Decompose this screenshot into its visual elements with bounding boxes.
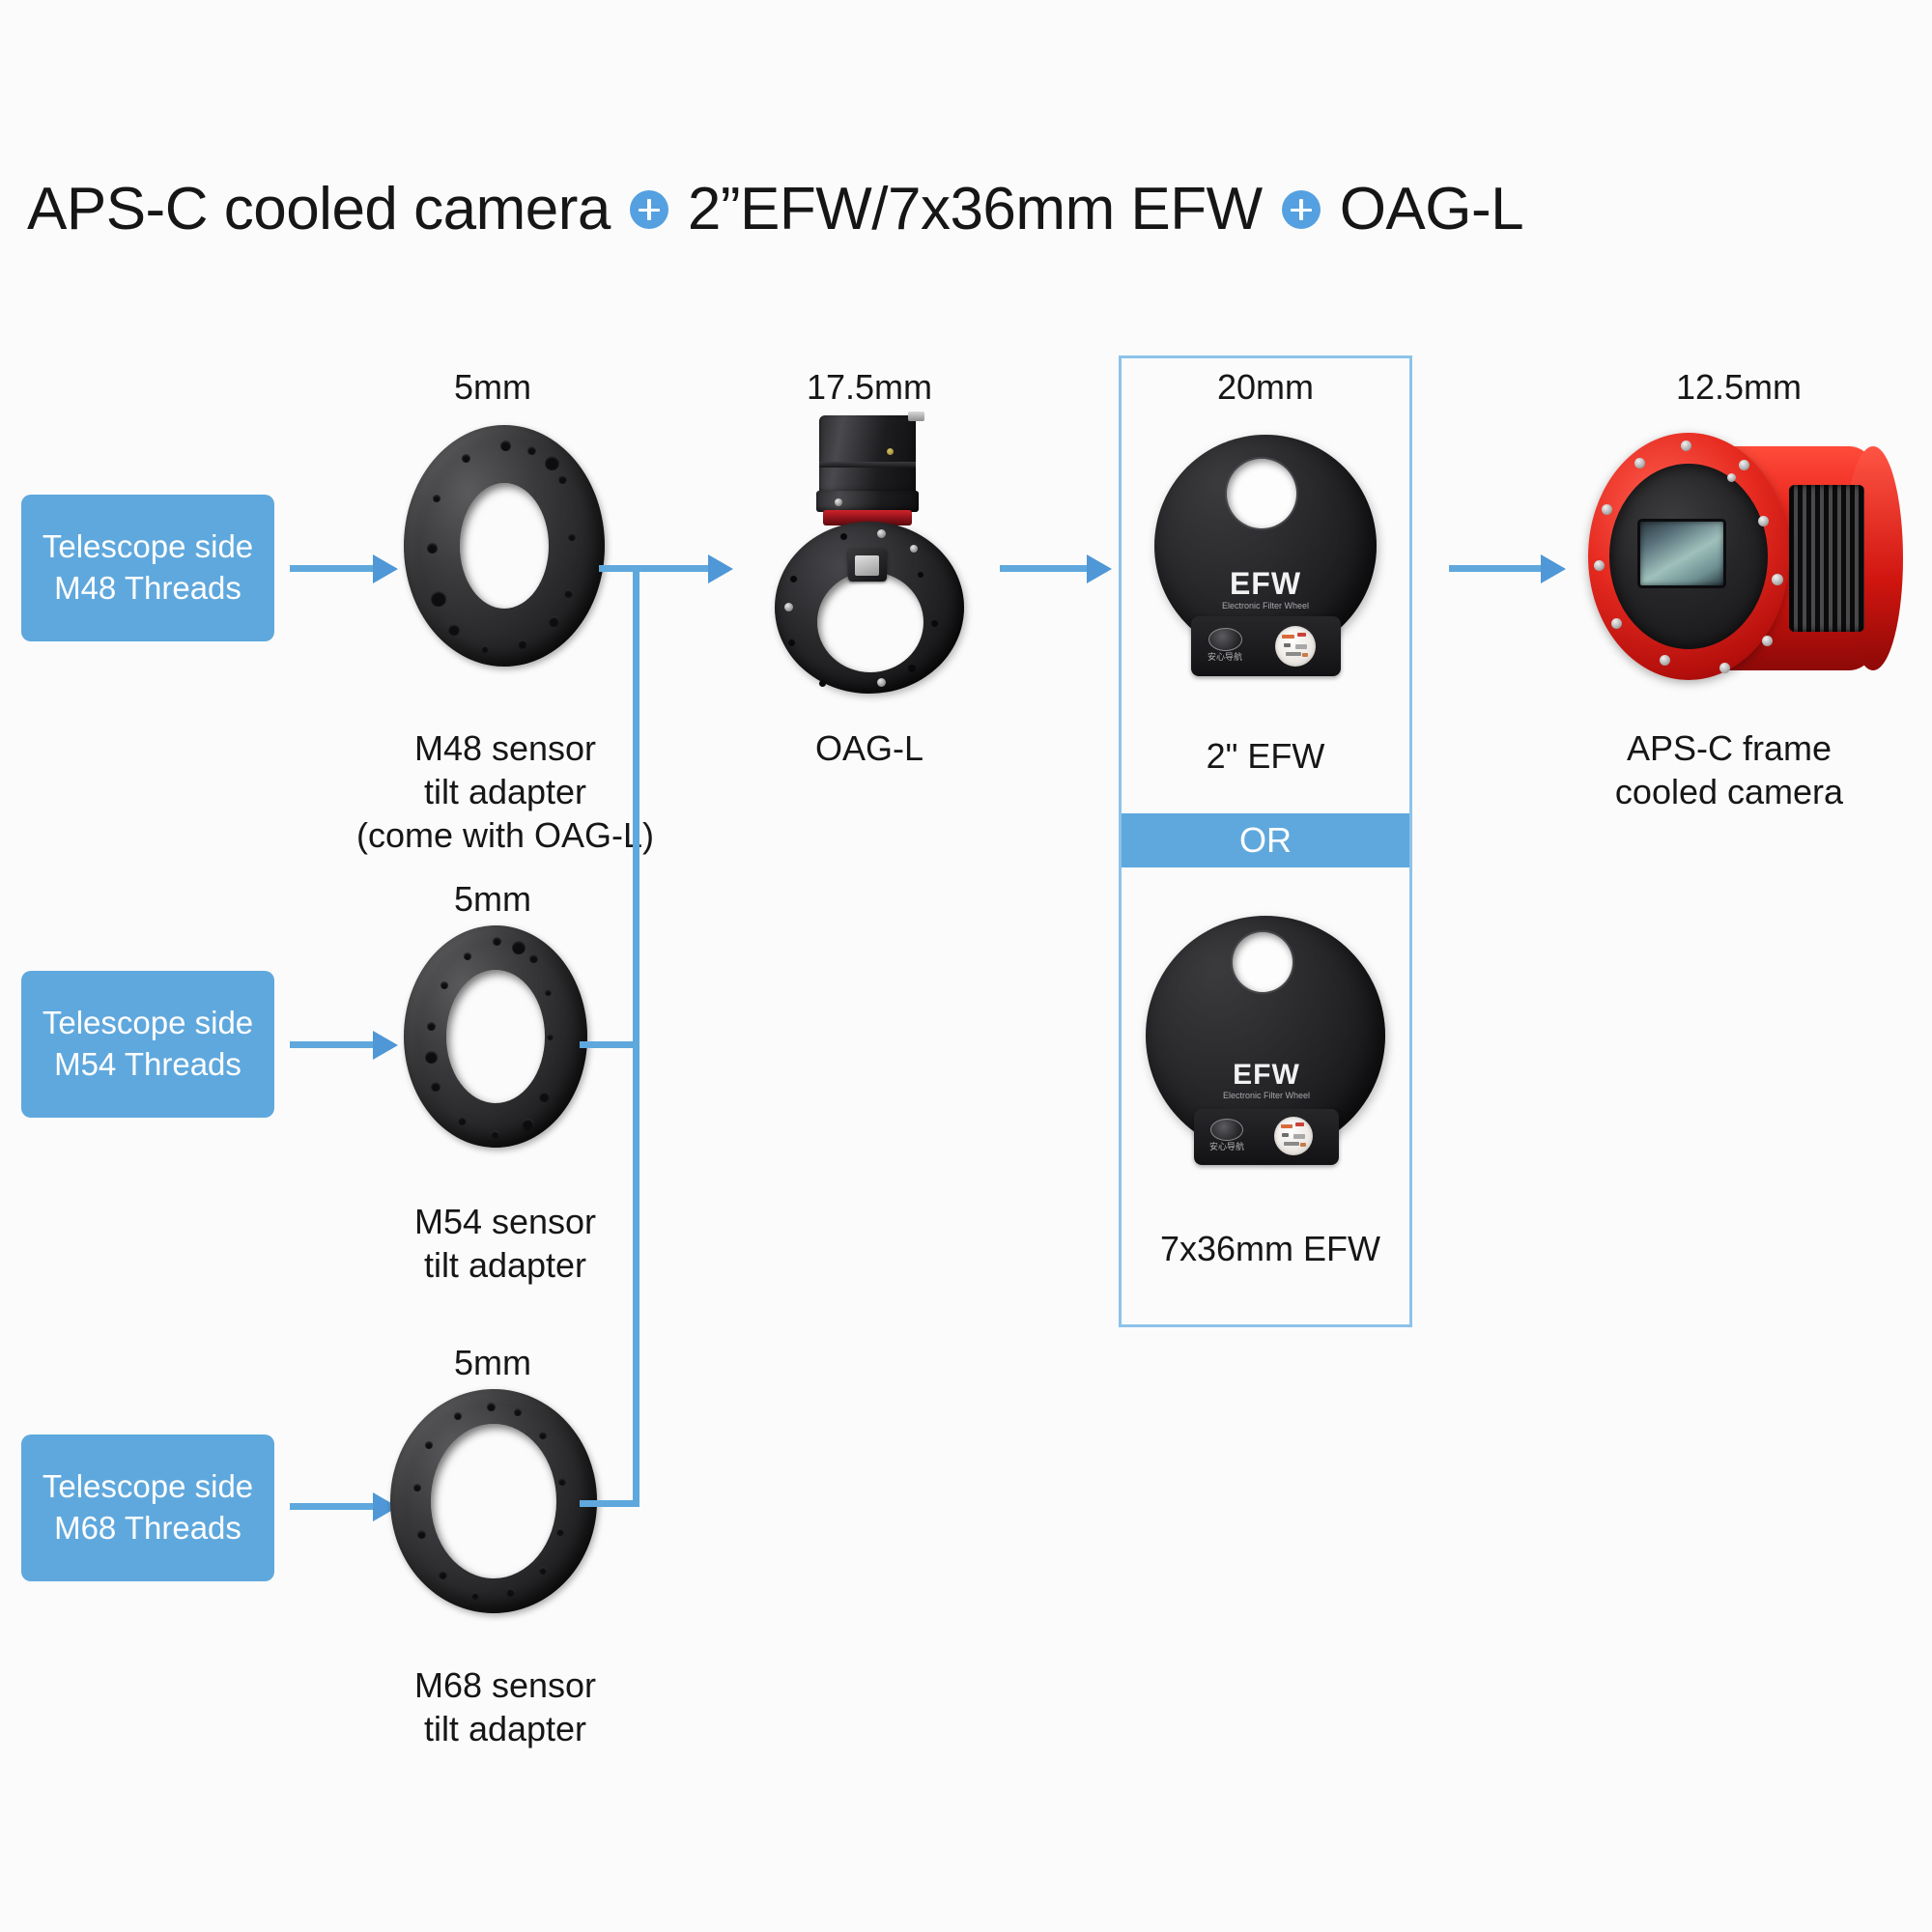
arrow-head-m48	[373, 554, 398, 583]
telescope-side-m48-line2: M48 Threads	[54, 568, 241, 610]
title-part-efw: 2”EFW/7x36mm EFW	[688, 180, 1263, 240]
dimension-m48: 5mm	[396, 367, 589, 408]
plus-circle-icon	[1282, 190, 1321, 229]
m48-caption-line2: tilt adapter	[346, 770, 665, 813]
m48-tilt-adapter-image	[404, 425, 605, 667]
arrow-head-efw-to-camera	[1541, 554, 1566, 583]
dimension-oag: 17.5mm	[753, 367, 985, 408]
telescope-side-m54-line1: Telescope side	[43, 1003, 253, 1044]
connector-m68-to-trunk	[580, 1500, 638, 1507]
telescope-side-m68-box[interactable]: Telescope side M68 Threads	[21, 1435, 274, 1581]
title-part-camera: APS-C cooled camera	[27, 180, 611, 240]
efw-7x36-logo-sub: 安心导航	[1203, 1143, 1251, 1151]
efw-7x36-brand-sub: Electronic Filter Wheel	[1184, 1092, 1349, 1100]
efw-2inch-logo-sub: 安心导航	[1201, 653, 1249, 662]
dimension-camera: 12.5mm	[1613, 367, 1864, 408]
arrow-head-m54	[373, 1031, 398, 1060]
m54-tilt-adapter-image	[404, 925, 587, 1148]
telescope-side-m48-line1: Telescope side	[43, 526, 253, 568]
telescope-side-m68-line2: M68 Threads	[54, 1508, 241, 1549]
dimension-m68: 5mm	[396, 1343, 589, 1383]
connector-trunk-vertical	[633, 565, 639, 1507]
efw-2inch-brand: EFW	[1183, 568, 1348, 599]
m54-adapter-caption: M54 sensor tilt adapter	[346, 1200, 665, 1287]
camera-caption-line1: APS-C frame	[1565, 726, 1893, 770]
m48-caption-line3: (come with OAG-L)	[346, 813, 665, 857]
telescope-side-m68-line1: Telescope side	[43, 1466, 253, 1508]
efw-7x36-image: EFW Electronic Filter Wheel 安心导航	[1138, 908, 1394, 1198]
dimension-efw-2inch: 20mm	[1169, 367, 1362, 408]
m48-adapter-caption: M48 sensor tilt adapter (come with OAG-L…	[346, 726, 665, 857]
arrow-shaft-efw-to-camera	[1449, 565, 1546, 572]
arrow-shaft-m68	[290, 1503, 375, 1510]
camera-caption-line2: cooled camera	[1565, 770, 1893, 813]
telescope-side-m48-box[interactable]: Telescope side M48 Threads	[21, 495, 274, 641]
oag-l-caption: OAG-L	[734, 726, 1005, 770]
aps-c-cooled-camera-image	[1584, 425, 1913, 705]
plus-circle-icon	[630, 190, 668, 229]
telescope-side-m54-box[interactable]: Telescope side M54 Threads	[21, 971, 274, 1118]
arrow-head-to-oag	[708, 554, 733, 583]
m54-caption-line2: tilt adapter	[346, 1243, 665, 1287]
efw-7x36-caption: 7x36mm EFW	[1130, 1227, 1410, 1270]
efw-2inch-image: EFW Electronic Filter Wheel 安心导航	[1145, 425, 1386, 705]
telescope-side-m54-line2: M54 Threads	[54, 1044, 241, 1086]
arrow-shaft-oag-to-efw	[1000, 565, 1092, 572]
arrow-shaft-m48	[290, 565, 375, 572]
diagram-canvas: APS-C cooled camera 2”EFW/7x36mm EFW OAG…	[0, 0, 1932, 1932]
efw-2inch-caption: 2" EFW	[1130, 734, 1401, 778]
m68-caption-line2: tilt adapter	[346, 1707, 665, 1750]
oag-l-image	[763, 406, 976, 696]
connector-m48-to-trunk	[599, 565, 715, 572]
efw-7x36-brand: EFW	[1184, 1061, 1349, 1090]
efw-2inch-brand-sub: Electronic Filter Wheel	[1183, 602, 1348, 611]
connector-m54-to-trunk	[580, 1041, 638, 1048]
m54-caption-line1: M54 sensor	[346, 1200, 665, 1243]
m48-caption-line1: M48 sensor	[346, 726, 665, 770]
or-divider: OR	[1122, 813, 1409, 867]
dimension-m54: 5mm	[396, 879, 589, 920]
title-part-oag: OAG-L	[1340, 180, 1523, 240]
m68-tilt-adapter-image	[390, 1389, 597, 1613]
camera-caption: APS-C frame cooled camera	[1565, 726, 1893, 813]
page-title: APS-C cooled camera 2”EFW/7x36mm EFW OAG…	[27, 180, 1523, 240]
m68-caption-line1: M68 sensor	[346, 1663, 665, 1707]
m68-adapter-caption: M68 sensor tilt adapter	[346, 1663, 665, 1750]
arrow-head-oag-to-efw	[1087, 554, 1112, 583]
arrow-shaft-m54	[290, 1041, 375, 1048]
